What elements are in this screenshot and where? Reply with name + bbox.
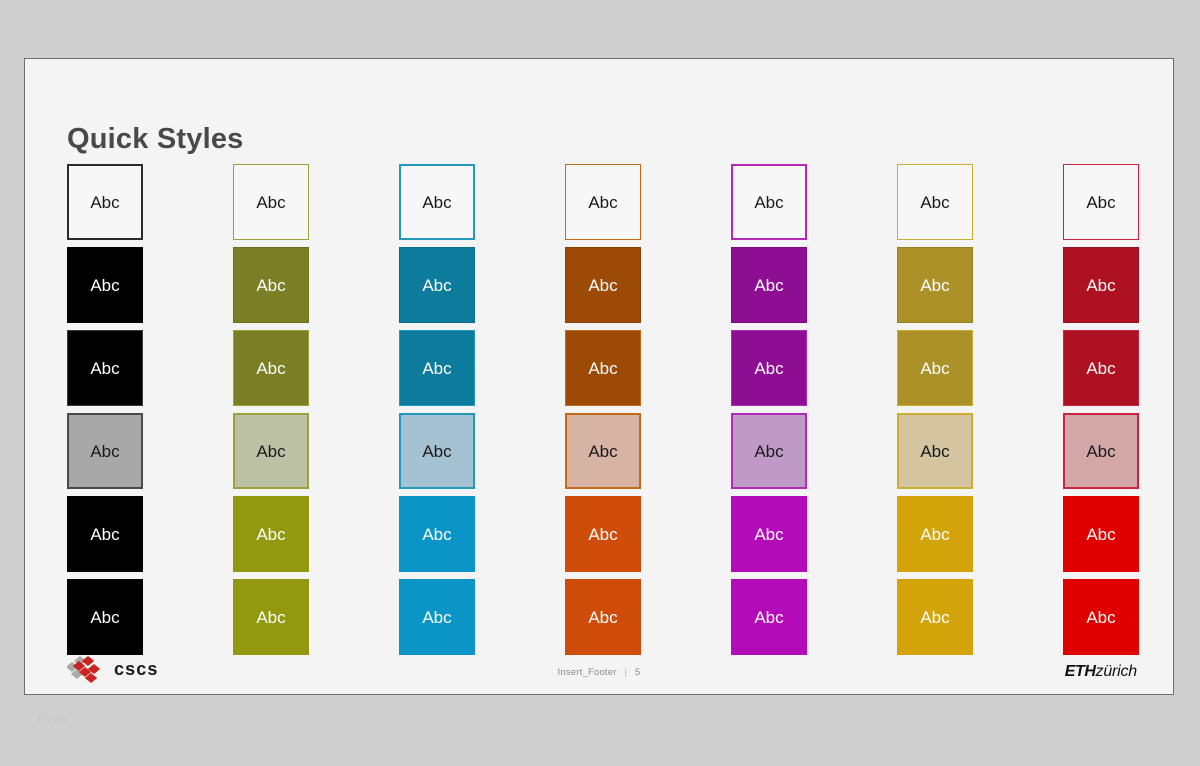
style-swatch-teal-1[interactable]: Abc bbox=[399, 164, 475, 240]
swatch-label: Abc bbox=[588, 526, 617, 543]
swatch-label: Abc bbox=[256, 526, 285, 543]
style-swatch-olive-3[interactable]: Abc bbox=[233, 330, 309, 406]
swatch-label: Abc bbox=[422, 277, 451, 294]
swatch-label: Abc bbox=[588, 443, 617, 460]
swatch-label: Abc bbox=[90, 360, 119, 377]
style-swatch-brown-4[interactable]: Abc bbox=[565, 413, 641, 489]
style-swatch-black-1[interactable]: Abc bbox=[67, 164, 143, 240]
swatch-label: Abc bbox=[256, 277, 285, 294]
style-swatch-purple-3[interactable]: Abc bbox=[731, 330, 807, 406]
swatch-label: Abc bbox=[90, 526, 119, 543]
style-swatch-olive-4[interactable]: Abc bbox=[233, 413, 309, 489]
style-swatch-red-1[interactable]: Abc bbox=[1063, 164, 1139, 240]
presentation-slide: Quick Styles AbcAbcAbcAbcAbcAbcAbcAbcAbc… bbox=[24, 58, 1174, 695]
swatch-label: Abc bbox=[256, 609, 285, 626]
swatch-label: Abc bbox=[588, 194, 617, 211]
style-swatch-brown-1[interactable]: Abc bbox=[565, 164, 641, 240]
swatch-label: Abc bbox=[256, 360, 285, 377]
swatch-label: Abc bbox=[1086, 609, 1115, 626]
style-swatch-olive-2[interactable]: Abc bbox=[233, 247, 309, 323]
swatch-label: Abc bbox=[588, 609, 617, 626]
style-swatch-gold-3[interactable]: Abc bbox=[897, 330, 973, 406]
swatch-row-solid-dark: AbcAbcAbcAbcAbcAbcAbc bbox=[67, 247, 1147, 330]
swatch-row-outline-light: AbcAbcAbcAbcAbcAbcAbc bbox=[67, 164, 1147, 247]
swatch-label: Abc bbox=[422, 194, 451, 211]
style-swatch-brown-2[interactable]: Abc bbox=[565, 247, 641, 323]
swatch-label: Abc bbox=[1086, 526, 1115, 543]
swatch-row-tint-muted: AbcAbcAbcAbcAbcAbcAbc bbox=[67, 413, 1147, 496]
style-swatch-purple-5[interactable]: Abc bbox=[731, 496, 807, 572]
swatch-label: Abc bbox=[920, 526, 949, 543]
slide-number: 5 bbox=[635, 667, 640, 678]
swatch-label: Abc bbox=[920, 360, 949, 377]
swatch-label: Abc bbox=[90, 443, 119, 460]
style-swatch-red-2[interactable]: Abc bbox=[1063, 247, 1139, 323]
swatch-label: Abc bbox=[588, 360, 617, 377]
eth-zurich-logo: ETHzürich bbox=[1065, 663, 1137, 681]
swatch-label: Abc bbox=[422, 609, 451, 626]
style-swatch-brown-3[interactable]: Abc bbox=[565, 330, 641, 406]
swatch-label: Abc bbox=[754, 443, 783, 460]
style-swatch-purple-1[interactable]: Abc bbox=[731, 164, 807, 240]
swatch-label: Abc bbox=[90, 609, 119, 626]
swatch-label: Abc bbox=[422, 443, 451, 460]
style-swatch-black-5[interactable]: Abc bbox=[67, 496, 143, 572]
style-swatch-red-4[interactable]: Abc bbox=[1063, 413, 1139, 489]
footer-center-text: Insert_Footer | 5 bbox=[25, 667, 1173, 678]
swatch-label: Abc bbox=[422, 526, 451, 543]
swatch-label: Abc bbox=[920, 443, 949, 460]
swatch-label: Abc bbox=[90, 194, 119, 211]
style-swatch-olive-1[interactable]: Abc bbox=[233, 164, 309, 240]
swatch-label: Abc bbox=[256, 443, 285, 460]
style-swatch-black-3[interactable]: Abc bbox=[67, 330, 143, 406]
style-swatch-olive-5[interactable]: Abc bbox=[233, 496, 309, 572]
eth-logo-regular: zürich bbox=[1096, 663, 1137, 680]
swatch-label: Abc bbox=[1086, 360, 1115, 377]
swatch-label: Abc bbox=[90, 277, 119, 294]
swatch-label: Abc bbox=[920, 609, 949, 626]
swatch-label: Abc bbox=[1086, 277, 1115, 294]
style-swatch-gold-2[interactable]: Abc bbox=[897, 247, 973, 323]
eth-logo-bold: ETH bbox=[1065, 663, 1096, 680]
style-swatch-red-5[interactable]: Abc bbox=[1063, 496, 1139, 572]
style-swatch-gold-4[interactable]: Abc bbox=[897, 413, 973, 489]
swatch-label: Abc bbox=[1086, 194, 1115, 211]
swatch-row-solid-bright: AbcAbcAbcAbcAbcAbcAbc bbox=[67, 496, 1147, 579]
style-swatch-purple-4[interactable]: Abc bbox=[731, 413, 807, 489]
swatch-label: Abc bbox=[754, 277, 783, 294]
style-swatch-teal-2[interactable]: Abc bbox=[399, 247, 475, 323]
quick-styles-grid: AbcAbcAbcAbcAbcAbcAbcAbcAbcAbcAbcAbcAbcA… bbox=[67, 164, 1147, 662]
style-swatch-gold-1[interactable]: Abc bbox=[897, 164, 973, 240]
style-swatch-black-4[interactable]: Abc bbox=[67, 413, 143, 489]
style-swatch-teal-5[interactable]: Abc bbox=[399, 496, 475, 572]
swatch-label: Abc bbox=[422, 360, 451, 377]
page-title: Quick Styles bbox=[67, 123, 244, 156]
slide-footer: cscs Insert_Footer | 5 ETHzürich bbox=[25, 642, 1173, 694]
footer-separator: | bbox=[624, 667, 627, 678]
swatch-label: Abc bbox=[754, 526, 783, 543]
swatch-label: Abc bbox=[754, 194, 783, 211]
style-swatch-black-2[interactable]: Abc bbox=[67, 247, 143, 323]
footer-placeholder-text: Insert_Footer bbox=[558, 667, 617, 678]
swatch-label: Abc bbox=[588, 277, 617, 294]
style-swatch-teal-3[interactable]: Abc bbox=[399, 330, 475, 406]
swatch-row-solid-dark-2: AbcAbcAbcAbcAbcAbcAbc bbox=[67, 330, 1147, 413]
style-swatch-gold-5[interactable]: Abc bbox=[897, 496, 973, 572]
swatch-label: Abc bbox=[920, 194, 949, 211]
swatch-label: Abc bbox=[754, 360, 783, 377]
style-swatch-red-3[interactable]: Abc bbox=[1063, 330, 1139, 406]
style-swatch-brown-5[interactable]: Abc bbox=[565, 496, 641, 572]
swatch-label: Abc bbox=[256, 194, 285, 211]
swatch-label: Abc bbox=[754, 609, 783, 626]
style-swatch-purple-2[interactable]: Abc bbox=[731, 247, 807, 323]
style-swatch-teal-4[interactable]: Abc bbox=[399, 413, 475, 489]
swatch-label: Abc bbox=[920, 277, 949, 294]
blog-watermark: blog bbox=[38, 712, 66, 725]
swatch-label: Abc bbox=[1086, 443, 1115, 460]
